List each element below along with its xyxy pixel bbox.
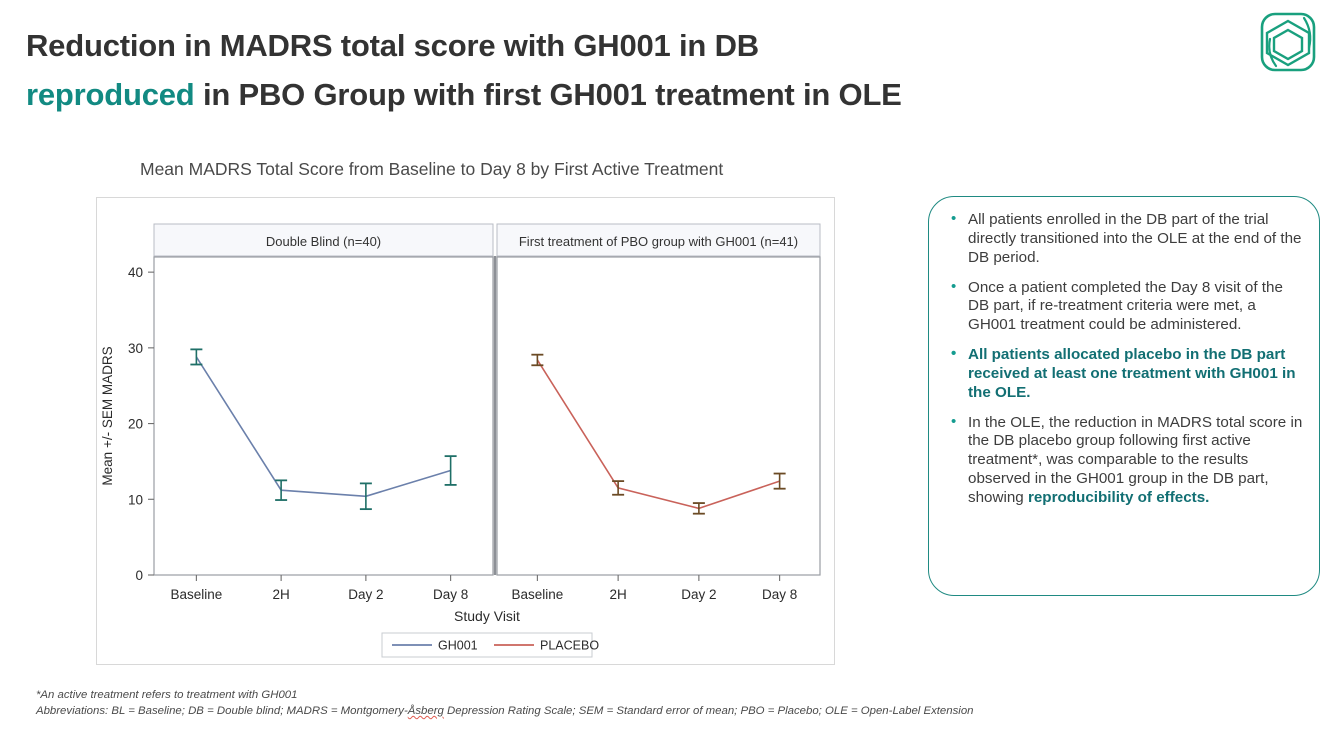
x-axis-tick-label: 2H	[609, 587, 626, 602]
bullet-text-segment: All patients allocated placebo in the DB…	[968, 346, 1296, 401]
bullet-item: All patients enrolled in the DB part of …	[943, 211, 1303, 268]
chart-container: Double Blind (n=40)First treatment of PB…	[96, 197, 835, 665]
bullet-item: Once a patient completed the Day 8 visit…	[943, 279, 1303, 336]
error-bar	[445, 456, 457, 485]
x-axis-title: Study Visit	[454, 608, 520, 624]
title-line-1-text: Reduction in MADRS total score with GH00…	[26, 28, 759, 63]
bullet-text-segment: All patients enrolled in the DB part of …	[968, 211, 1302, 266]
title-line-1: Reduction in MADRS total score with GH00…	[26, 22, 1241, 71]
footnote-2-spellcheck-word: Åsberg	[408, 705, 444, 717]
page-title: Reduction in MADRS total score with GH00…	[26, 22, 1241, 120]
series-line-placebo	[537, 360, 779, 508]
error-bar	[774, 474, 786, 489]
panel-header-label: Double Blind (n=40)	[266, 234, 381, 249]
bullet-item: In the OLE, the reduction in MADRS total…	[943, 414, 1303, 508]
bullet-list: All patients enrolled in the DB part of …	[943, 211, 1303, 508]
y-axis-tick-label: 10	[128, 492, 143, 507]
legend-label-placebo: PLACEBO	[540, 639, 599, 653]
legend-label-gh001: GH001	[438, 639, 478, 653]
footnote-line-2: Abbreviations: BL = Baseline; DB = Doubl…	[36, 703, 974, 719]
x-axis-tick-label: 2H	[272, 587, 289, 602]
x-axis-tick-label: Baseline	[170, 587, 222, 602]
madrs-line-chart: Double Blind (n=40)First treatment of PB…	[97, 198, 834, 664]
slide-root: Reduction in MADRS total score with GH00…	[0, 0, 1340, 731]
key-takeaways-box: All patients enrolled in the DB part of …	[928, 196, 1320, 596]
title-accent-word: reproduced	[26, 77, 195, 112]
chart-title: Mean MADRS Total Score from Baseline to …	[140, 159, 723, 180]
panel-header-label: First treatment of PBO group with GH001 …	[519, 234, 798, 249]
bullet-text-segment: Once a patient completed the Day 8 visit…	[968, 279, 1283, 334]
title-line-2-rest: in PBO Group with first GH001 treatment …	[195, 77, 902, 112]
title-line-2: reproduced in PBO Group with first GH001…	[26, 71, 1241, 120]
footnote-2-pre: Abbreviations: BL = Baseline; DB = Doubl…	[36, 705, 408, 717]
company-logo-icon	[1252, 6, 1324, 78]
y-axis-tick-label: 0	[135, 568, 143, 583]
x-axis-tick-label: Day 8	[762, 587, 797, 602]
error-bar	[531, 355, 543, 366]
logo-glyph	[1252, 6, 1324, 78]
footnote-2-post: Depression Rating Scale; SEM = Standard …	[444, 705, 974, 717]
x-axis-tick-label: Day 2	[348, 587, 383, 602]
x-axis-tick-label: Day 8	[433, 587, 468, 602]
footnote-line-1: *An active treatment refers to treatment…	[36, 687, 974, 703]
panel-plot-frame	[497, 257, 820, 575]
footnotes: *An active treatment refers to treatment…	[36, 687, 974, 719]
bullet-text-segment: reproducibility of effects.	[1028, 489, 1209, 506]
error-bar	[612, 481, 624, 495]
y-axis-tick-label: 40	[128, 265, 143, 280]
y-axis-tick-label: 30	[128, 341, 143, 356]
bullet-item: All patients allocated placebo in the DB…	[943, 346, 1303, 403]
y-axis-title: Mean +/- SEM MADRS	[100, 346, 115, 485]
x-axis-tick-label: Day 2	[681, 587, 716, 602]
x-axis-tick-label: Baseline	[511, 587, 563, 602]
y-axis-tick-label: 20	[128, 417, 143, 432]
series-line-gh001	[196, 357, 450, 496]
panel-plot-frame	[154, 257, 493, 575]
error-bar	[693, 503, 705, 514]
